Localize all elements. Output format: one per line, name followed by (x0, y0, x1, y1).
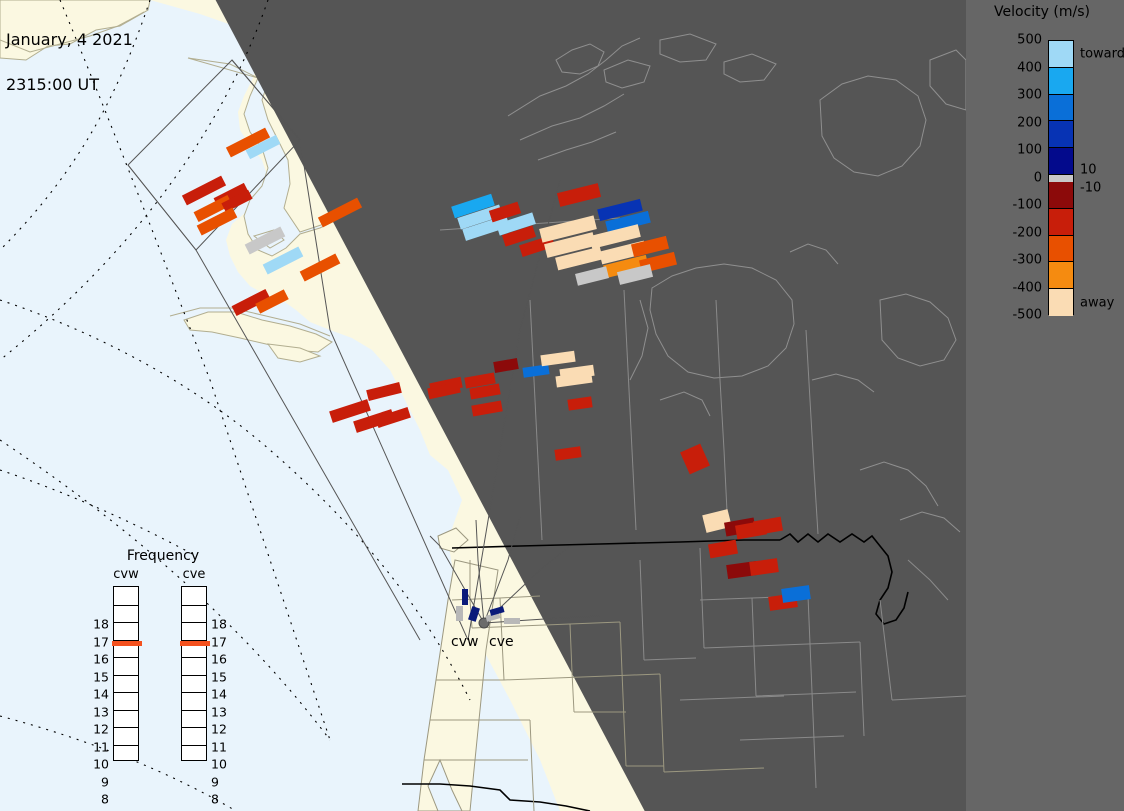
frequency-gridline (182, 727, 206, 728)
timestamp-title: January, 4 2021 2315:00 UT (6, 2, 133, 122)
colorbar-away-label: away (1080, 296, 1114, 311)
frequency-axis-label-9: 9 (211, 774, 219, 789)
colorbar-tick--400: -400 (1012, 280, 1042, 295)
frequency-gridline (114, 657, 138, 658)
frequency-axis-label-10: 10 (93, 757, 109, 772)
frequency-axis-label-14: 14 (211, 687, 227, 702)
colorbar-segment-5 (1049, 175, 1073, 182)
colorbar-tick-500: 500 (1017, 33, 1042, 48)
frequency-axis-label-9: 9 (101, 774, 109, 789)
colorbar-segment-4 (1049, 148, 1073, 175)
frequency-axis-label-16: 16 (93, 652, 109, 667)
title-date: January, 4 2021 (6, 32, 133, 47)
frequency-legend-title: Frequency (88, 548, 238, 564)
frequency-axis-label-8: 8 (211, 792, 219, 807)
title-time: 2315:00 UT (6, 77, 133, 92)
colorbar-segment-10 (1049, 289, 1073, 316)
frequency-gridline (182, 657, 206, 658)
colorbar-strip (1048, 40, 1074, 315)
colorbar-tick-300: 300 (1017, 88, 1042, 103)
site-label-cvw: cvw (451, 634, 478, 650)
frequency-gridline (182, 710, 206, 711)
colorbar-segment-3 (1049, 121, 1073, 148)
map-canvas[interactable]: January, 4 2021 2315:00 UT cvw cve Frequ… (0, 0, 966, 811)
colorbar-tick--300: -300 (1012, 253, 1042, 268)
colorbar-tick-200: 200 (1017, 115, 1042, 130)
frequency-axis-label-11: 11 (93, 739, 109, 754)
colorbar-segment-9 (1049, 262, 1073, 289)
colorbar-segment-8 (1049, 236, 1073, 263)
frequency-axis-label-17: 17 (211, 634, 227, 649)
colorbar-tick-0: 0 (1034, 170, 1042, 185)
colorbar-title: Velocity (m/s) (966, 4, 1118, 20)
colorbar-tick-100: 100 (1017, 143, 1042, 158)
frequency-axis-label-13: 13 (211, 704, 227, 719)
frequency-axis-label-8: 8 (101, 792, 109, 807)
frequency-box-cve (181, 586, 207, 761)
colorbar-segment-2 (1049, 95, 1073, 122)
colorbar-tick--500: -500 (1012, 308, 1042, 323)
frequency-column-cvw: cvw 18171615141312111098 (113, 586, 139, 761)
frequency-gridline (182, 622, 206, 623)
superdarn-velocity-map: January, 4 2021 2315:00 UT cvw cve Frequ… (0, 0, 1124, 811)
frequency-gridline (114, 710, 138, 711)
colorbar-tick-400: 400 (1017, 60, 1042, 75)
frequency-axis-label-10: 10 (211, 757, 227, 772)
frequency-axis-label-18: 18 (93, 617, 109, 632)
frequency-axis-label-12: 12 (211, 722, 227, 737)
colorbar-tick--200: -200 (1012, 225, 1042, 240)
frequency-axis-label-12: 12 (93, 722, 109, 737)
colorbar-toward-label: toward (1080, 47, 1124, 62)
colorbar-panel: Velocity (m/s) 5004003002001000-100-200-… (966, 0, 1124, 811)
site-label-cve: cve (489, 634, 514, 650)
colorbar-segment-6 (1049, 182, 1073, 209)
frequency-gridline (114, 675, 138, 676)
colorbar-tick--100: -100 (1012, 198, 1042, 213)
colorbar-segment-0 (1049, 41, 1073, 68)
frequency-gridline (182, 745, 206, 746)
colorbar-segment-1 (1049, 68, 1073, 95)
frequency-axis-label-13: 13 (93, 704, 109, 719)
frequency-marker-cve (180, 641, 210, 646)
colorbar-segment-7 (1049, 209, 1073, 236)
frequency-gridline (114, 622, 138, 623)
frequency-column-cve: cve 18171615141312111098 (181, 586, 207, 761)
frequency-axis-label-15: 15 (93, 669, 109, 684)
frequency-gridline (182, 605, 206, 606)
frequency-column-label-cve: cve (183, 567, 206, 582)
frequency-gridline (182, 692, 206, 693)
frequency-axis-label-14: 14 (93, 687, 109, 702)
colorbar-inner-upper-label: 10 (1080, 162, 1097, 177)
frequency-gridline (182, 675, 206, 676)
colorbar-inner-lower-label: -10 (1080, 180, 1101, 195)
frequency-gridline (114, 605, 138, 606)
frequency-axis-label-15: 15 (211, 669, 227, 684)
frequency-axis-label-18: 18 (211, 617, 227, 632)
frequency-marker-cvw (112, 641, 142, 646)
frequency-gridline (114, 745, 138, 746)
frequency-column-label-cvw: cvw (113, 567, 138, 582)
frequency-axis-label-16: 16 (211, 652, 227, 667)
frequency-legend: Frequency cvw 18171615141312111098 cve 1… (88, 548, 238, 778)
frequency-gridline (114, 692, 138, 693)
frequency-gridline (114, 727, 138, 728)
frequency-box-cvw (113, 586, 139, 761)
frequency-axis-label-11: 11 (211, 739, 227, 754)
frequency-axis-label-17: 17 (93, 634, 109, 649)
